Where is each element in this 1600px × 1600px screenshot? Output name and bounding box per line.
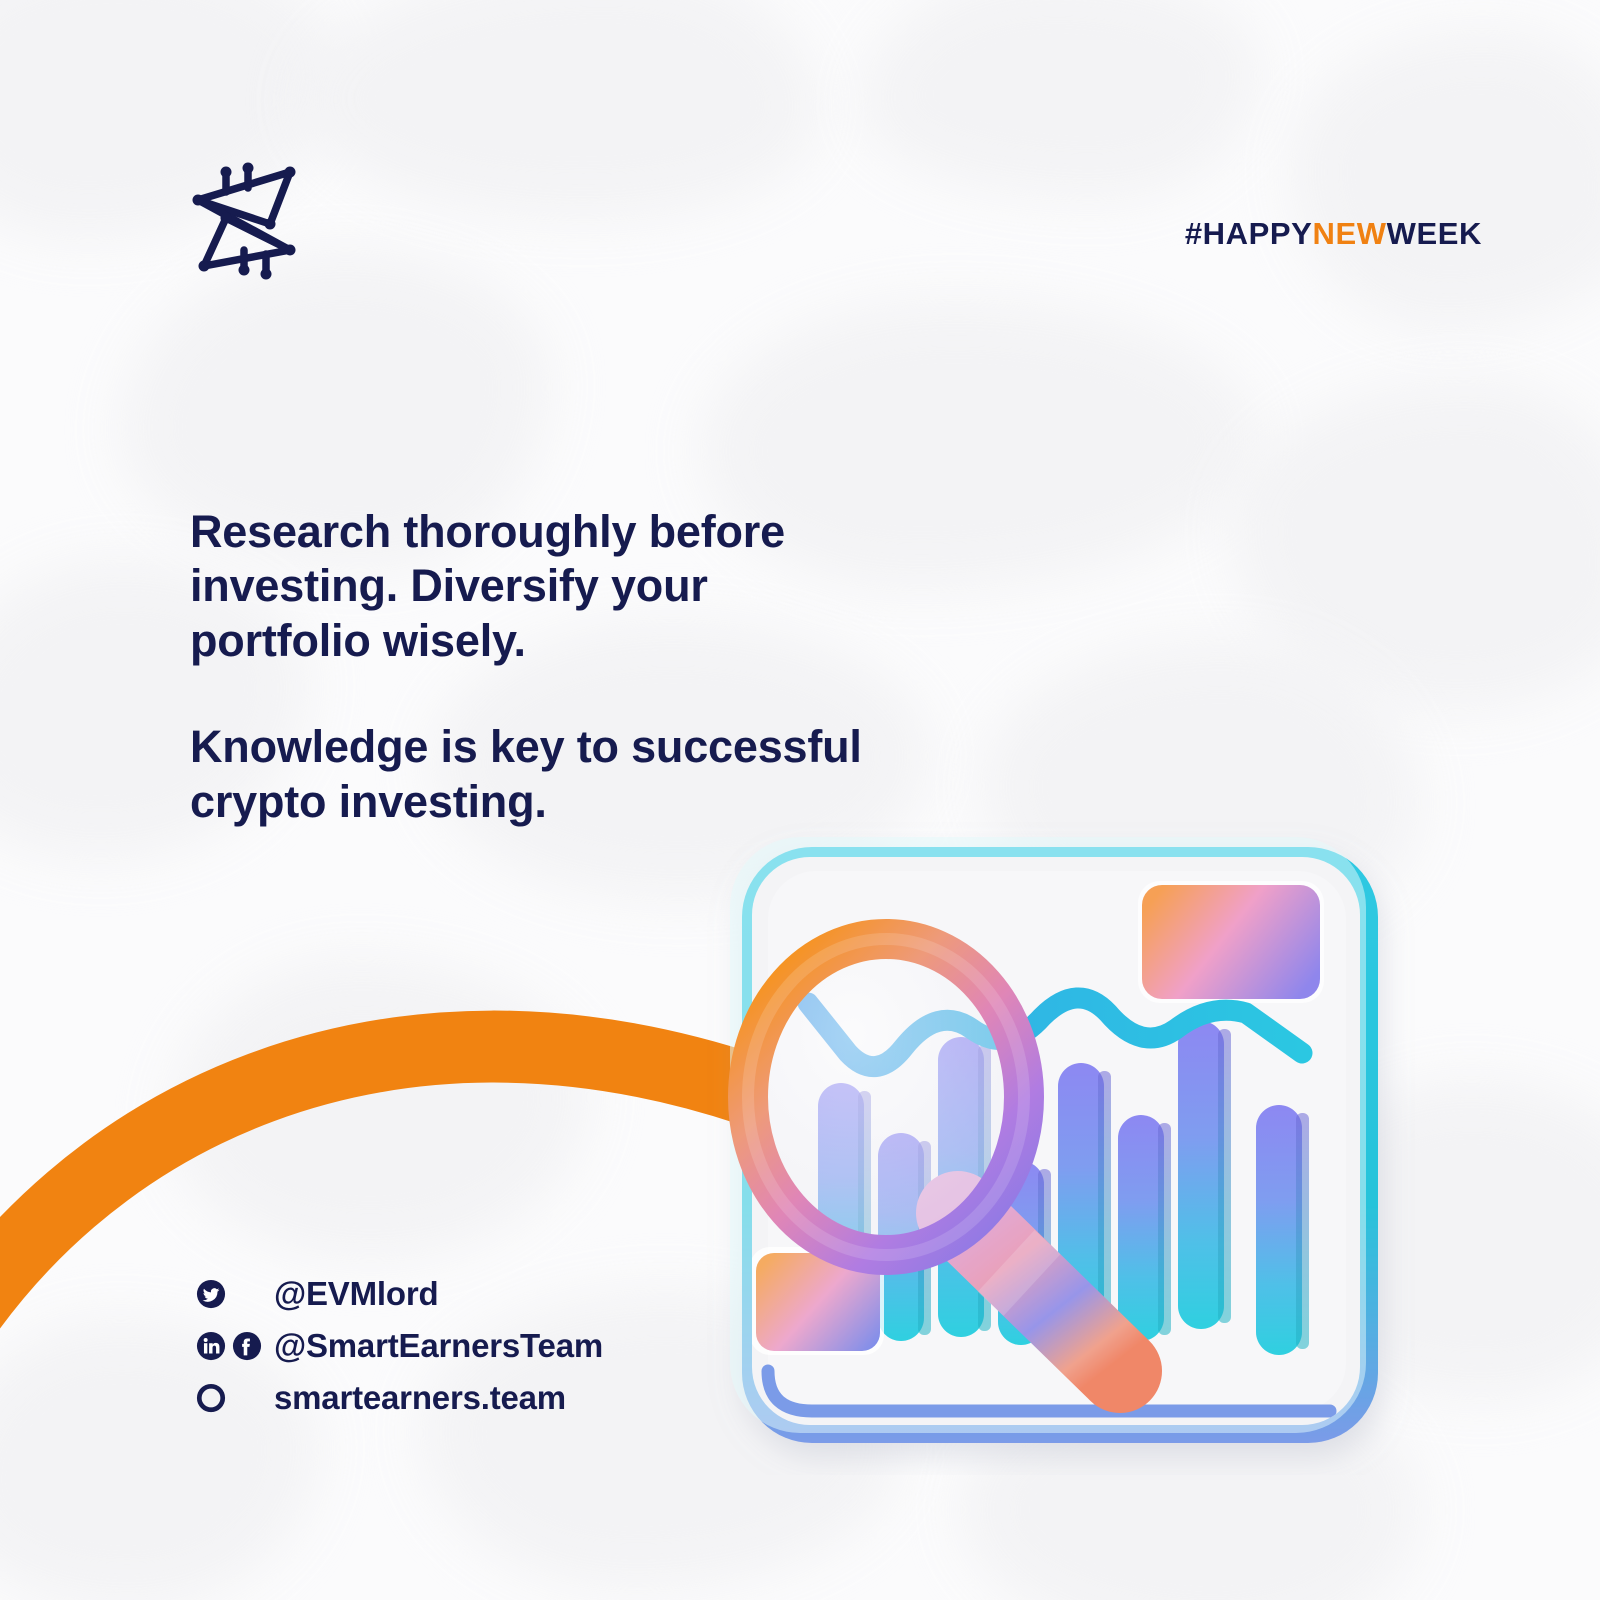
headline-paragraph-2: Knowledge is key to successful crypto in… — [190, 720, 890, 829]
hashtag-accent: NEW — [1312, 216, 1386, 251]
twitter-handle-label[interactable]: @EVMlord — [274, 1275, 438, 1313]
magnifier-bar-chart-illustration — [690, 815, 1450, 1475]
hashtag-suffix: WEEK — [1387, 216, 1482, 251]
website-url-label[interactable]: smartearners.team — [274, 1379, 566, 1417]
social-row-website[interactable]: smartearners.team — [196, 1372, 603, 1424]
bar — [1256, 1105, 1309, 1355]
social-row-twitter[interactable]: @EVMlord — [196, 1268, 603, 1320]
chip-top-right — [1138, 881, 1324, 1003]
hashtag-happy-new-week: #HAPPYNEWWEEK — [1185, 216, 1482, 252]
hashtag-prefix: #HAPPY — [1185, 216, 1313, 251]
headline-paragraph-1: Research thoroughly before investing. Di… — [190, 505, 890, 668]
social-handles: @EVMlord @S — [196, 1268, 603, 1424]
page-title: Research thoroughly before investing. Di… — [190, 505, 890, 829]
twitter-icon[interactable] — [196, 1279, 226, 1309]
facebook-icon[interactable] — [232, 1331, 262, 1361]
poster-canvas: #HAPPYNEWWEEK Research thoroughly before… — [0, 0, 1600, 1600]
linkedin-icon[interactable] — [196, 1331, 226, 1361]
linkedin-facebook-handle-label[interactable]: @SmartEarnersTeam — [274, 1327, 603, 1365]
social-row-linkedin-facebook[interactable]: @SmartEarnersTeam — [196, 1320, 603, 1372]
bar — [1178, 1021, 1231, 1329]
website-icon[interactable] — [196, 1383, 226, 1413]
bar — [1118, 1115, 1171, 1341]
smart-earners-zigzag-logo-icon — [186, 150, 316, 280]
